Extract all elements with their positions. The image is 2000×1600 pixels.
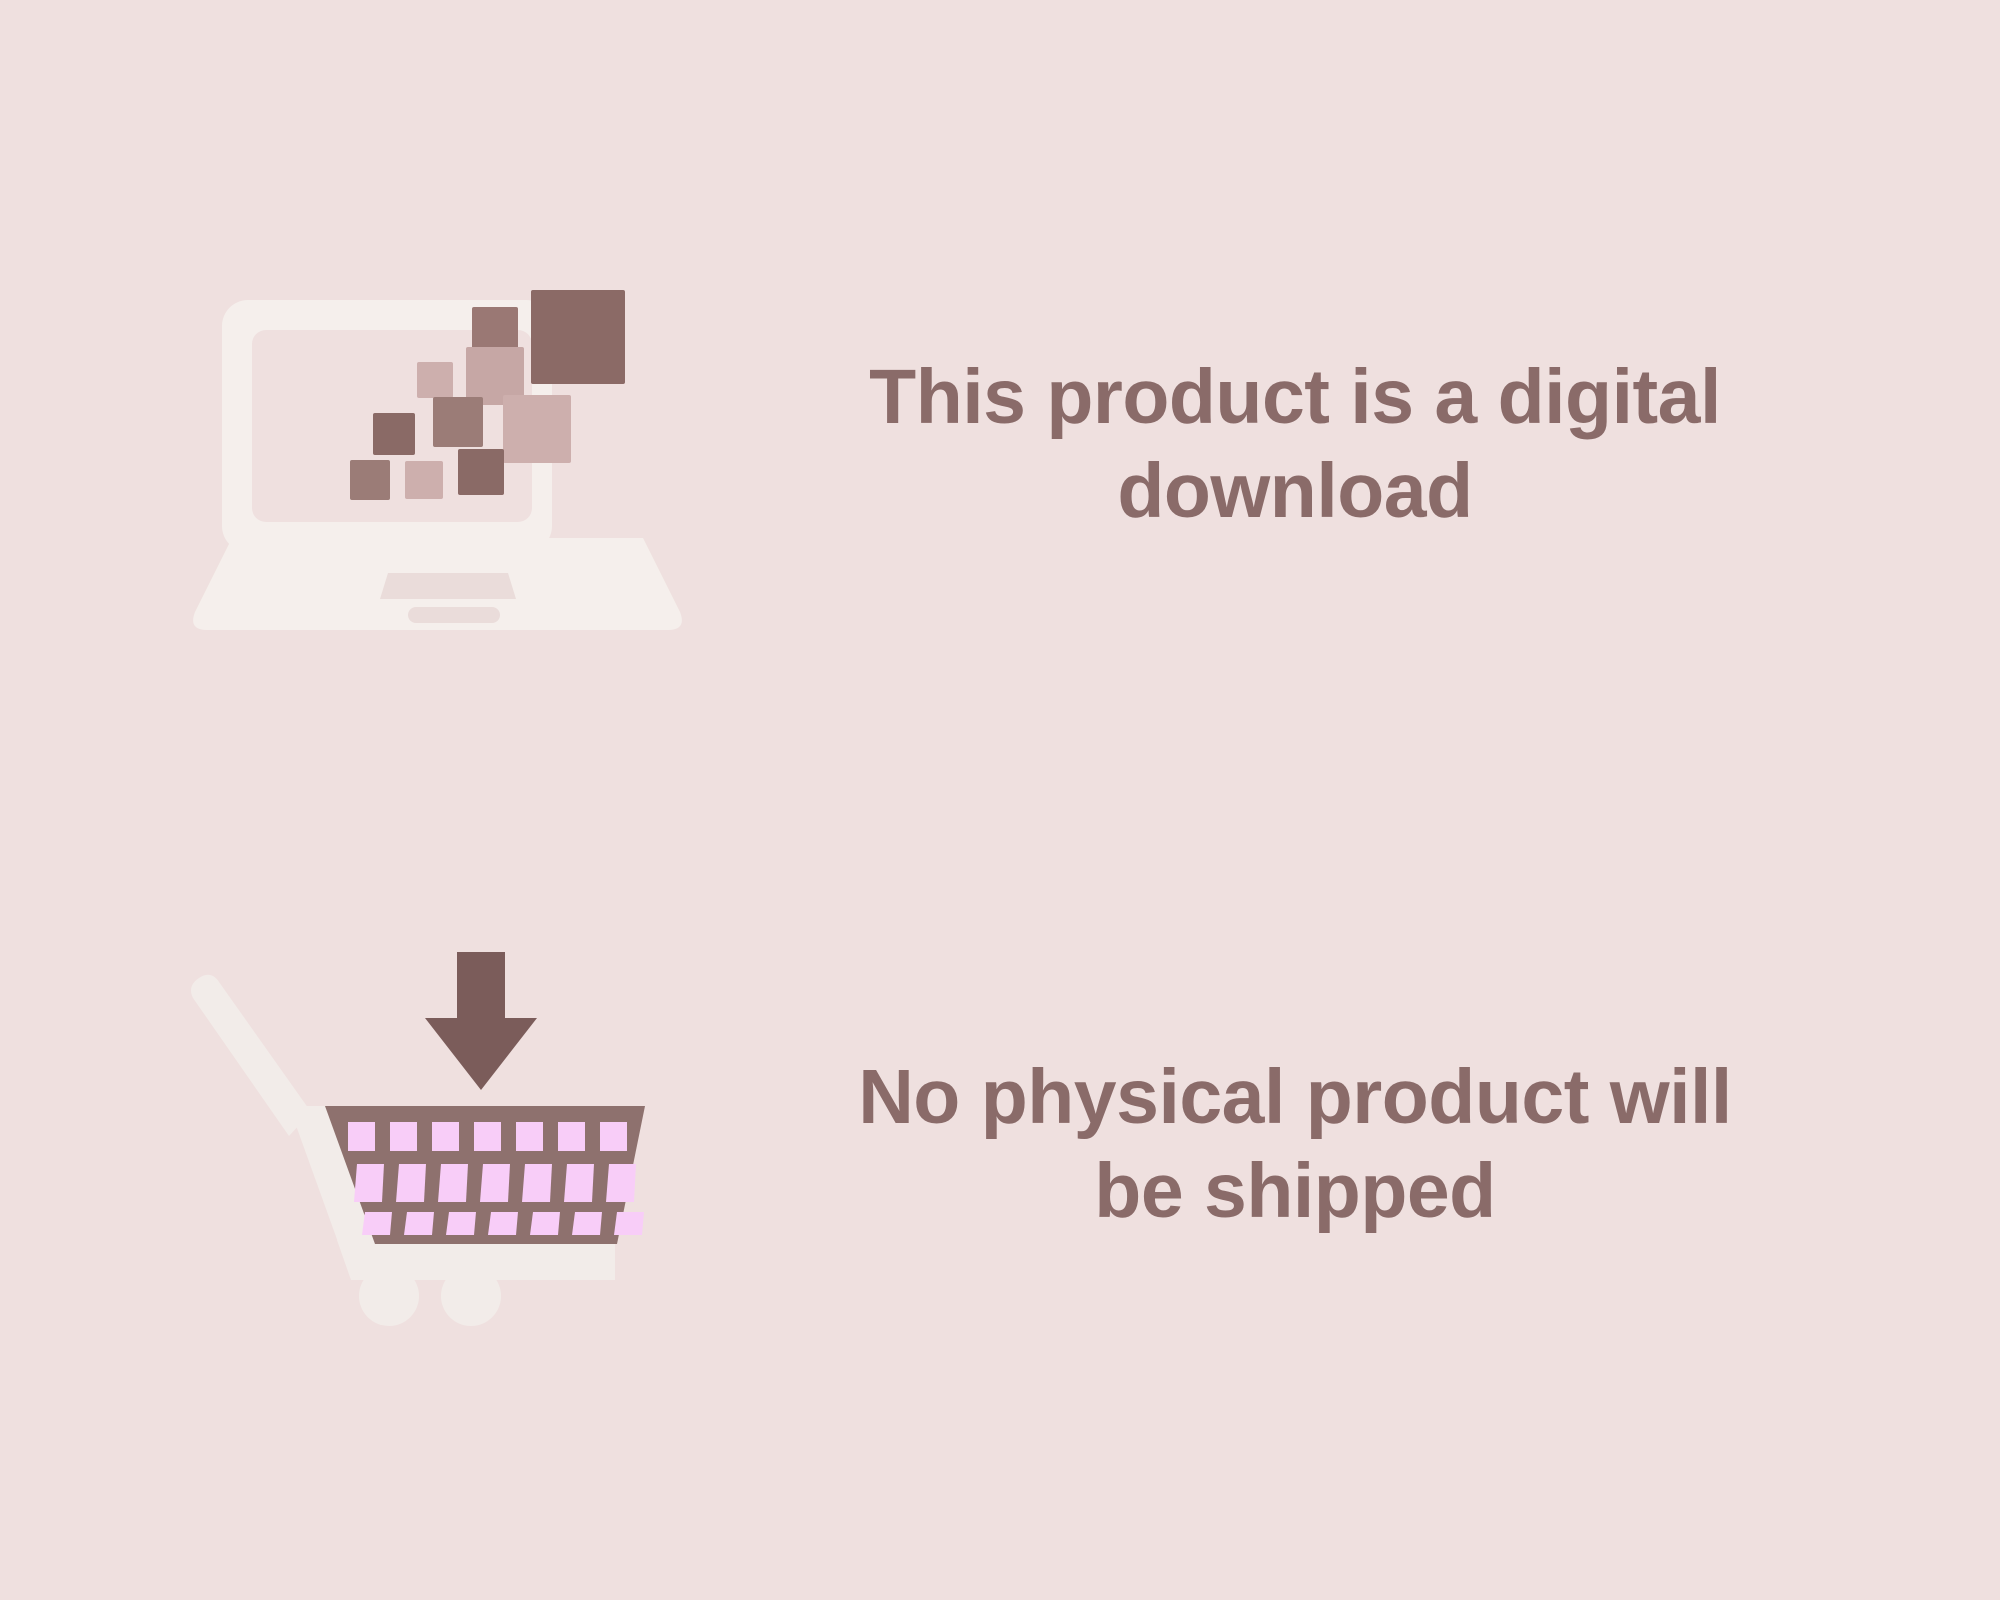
laptop-download-icon-cell [0, 230, 740, 660]
promo-graphic: This product is a digital download [0, 0, 2000, 1600]
pixel-square [458, 449, 504, 495]
feature-row-no-shipping: No physical product will be shipped [0, 930, 2000, 1360]
pixel-square [405, 461, 443, 499]
laptop-front-bar [408, 607, 500, 623]
no-shipping-caption: No physical product will be shipped [740, 1051, 1850, 1239]
pixel-square [503, 395, 571, 463]
digital-download-text-cell: This product is a digital download [740, 351, 2000, 539]
digital-download-line-1: This product is a digital [869, 354, 1721, 440]
pixel-square [433, 397, 483, 447]
pixel-square [417, 362, 453, 398]
laptop-trackpad [380, 573, 516, 599]
pixel-square [350, 460, 390, 500]
download-arrow-icon [425, 952, 537, 1090]
shopping-cart-icon-cell [0, 930, 740, 1360]
laptop-download-icon [190, 285, 690, 660]
feature-row-digital-download: This product is a digital download [0, 230, 2000, 660]
no-shipping-line-2: be shipped [1094, 1148, 1495, 1234]
pixel-square [531, 290, 625, 384]
digital-download-caption: This product is a digital download [740, 351, 1850, 539]
no-shipping-text-cell: No physical product will be shipped [740, 1051, 2000, 1239]
shopping-cart-no-ship-icon [185, 940, 705, 1360]
no-shipping-line-1: No physical product will [858, 1054, 1732, 1140]
digital-download-line-2: download [1117, 448, 1472, 534]
shopping-cart-svg [185, 940, 705, 1360]
pixel-square [373, 413, 415, 455]
